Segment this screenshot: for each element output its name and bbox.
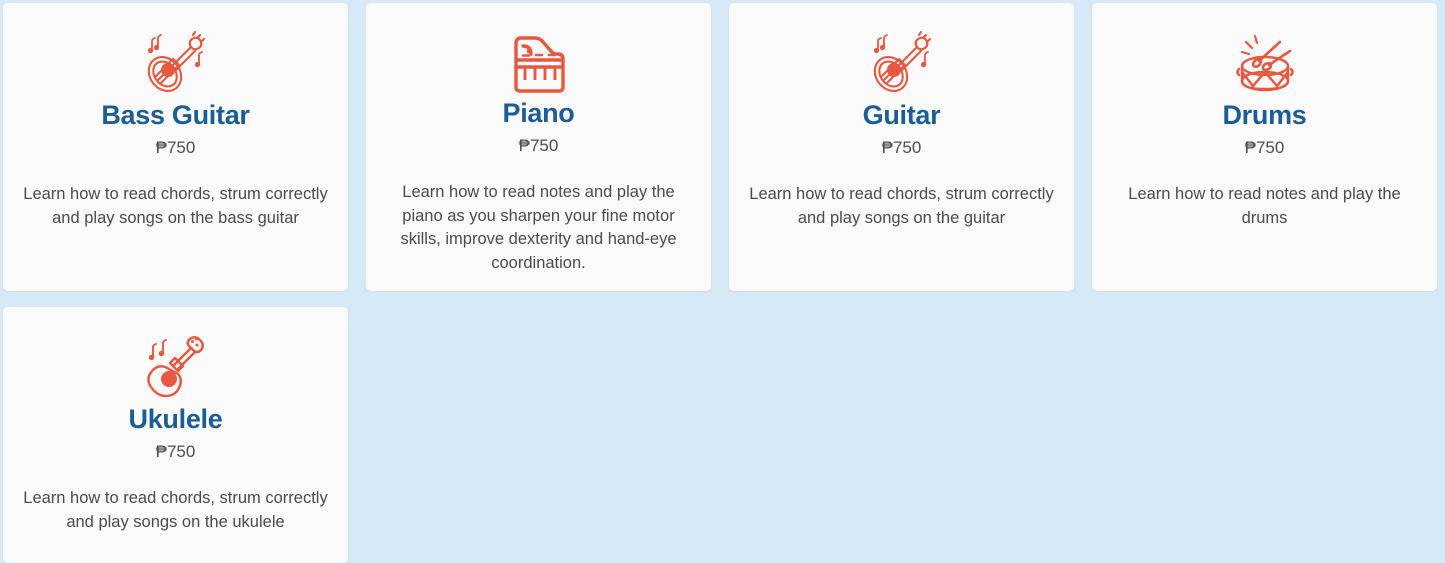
- course-card-grid: Bass Guitar ₱750 Learn how to read chord…: [0, 0, 1445, 563]
- course-card-bass-guitar[interactable]: Bass Guitar ₱750 Learn how to read chord…: [3, 3, 348, 291]
- course-title: Drums: [1222, 101, 1306, 131]
- course-title: Guitar: [863, 101, 941, 131]
- course-description: Learn how to read chords, strum correctl…: [20, 487, 332, 534]
- course-price: ₱750: [156, 443, 196, 462]
- course-title: Bass Guitar: [101, 101, 249, 131]
- ukulele-icon: [139, 331, 213, 403]
- course-description: Learn how to read notes and play the dru…: [1109, 183, 1421, 230]
- course-description: Learn how to read notes and play the pia…: [383, 181, 695, 275]
- course-description: Learn how to read chords, strum correctl…: [20, 183, 332, 230]
- guitar-icon: [865, 27, 939, 99]
- course-price: ₱750: [519, 137, 559, 156]
- piano-icon: [502, 27, 576, 97]
- course-title: Piano: [502, 99, 574, 129]
- course-price: ₱750: [156, 139, 196, 158]
- course-price: ₱750: [1245, 139, 1285, 158]
- course-card-piano[interactable]: Piano ₱750 Learn how to read notes and p…: [366, 3, 711, 291]
- course-title: Ukulele: [129, 405, 223, 435]
- drums-icon: [1228, 27, 1302, 99]
- course-card-ukulele[interactable]: Ukulele ₱750 Learn how to read chords, s…: [3, 307, 348, 563]
- course-card-guitar[interactable]: Guitar ₱750 Learn how to read chords, st…: [729, 3, 1074, 291]
- course-card-drums[interactable]: Drums ₱750 Learn how to read notes and p…: [1092, 3, 1437, 291]
- course-description: Learn how to read chords, strum correctl…: [746, 183, 1058, 230]
- guitar-icon: [139, 27, 213, 99]
- course-price: ₱750: [882, 139, 922, 158]
